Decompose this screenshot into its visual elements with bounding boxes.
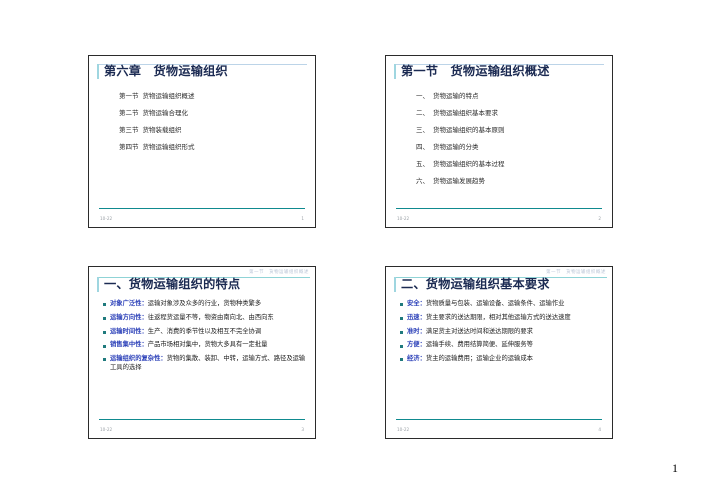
slide-footer-date-4: 10-22 bbox=[397, 427, 409, 432]
agenda-item-label: 货物运输组织的基本过程 bbox=[433, 160, 505, 168]
slide-canvas-3: 第一节 货物运输组织概述 一、货物运输组织的特点 对象广泛性：运输对象涉及众多的… bbox=[89, 267, 315, 438]
bullet-text: 方便：运输手续、费用结算简便、延伸服务等 bbox=[407, 341, 533, 350]
bullet-square-icon bbox=[400, 303, 403, 306]
slide-footer-date-3: 10-22 bbox=[100, 427, 112, 432]
bullet-item: 迅速：货主要求的送达期限，相对其他运输方式的送达速度 bbox=[400, 314, 604, 323]
agenda-item-label: 货物运输组织概述 bbox=[143, 92, 195, 100]
slide-footer-date-2: 10-22 bbox=[397, 216, 409, 221]
slide-footer-rule-3 bbox=[99, 419, 305, 420]
bullet-body: 往返程货运量不等，物资由南向北、由西向东 bbox=[148, 314, 274, 321]
bullet-body: 产品市场相对集中，货物大多具有一定批量 bbox=[148, 341, 268, 348]
agenda-item: 五、货物运输组织的基本过程 bbox=[416, 160, 602, 169]
agenda-item-label: 货物运输合理化 bbox=[143, 109, 189, 117]
bullet-item: 运输时间性：生产、消费的季节性以及相互不完全协调 bbox=[103, 328, 307, 337]
slide-title-area-3: 一、货物运输组织的特点 bbox=[97, 277, 307, 292]
slide-footer-number-2: 2 bbox=[598, 216, 601, 221]
bullet-square-icon bbox=[103, 345, 106, 348]
bullet-keyword: 销售集中性： bbox=[110, 341, 148, 348]
agenda-item: 三、货物运输组织的基本原则 bbox=[416, 126, 602, 135]
bullet-keyword: 安全： bbox=[407, 300, 426, 307]
agenda-item-number: 一、 bbox=[416, 92, 429, 100]
bullet-body: 生产、消费的季节性以及相互不完全协调 bbox=[148, 328, 261, 335]
agenda-item-number: 第四节 bbox=[119, 143, 139, 151]
bullet-list-3: 对象广泛性：运输对象涉及众多的行业，货物种类繁多 运输方向性：往返程货运量不等，… bbox=[103, 300, 307, 378]
bullet-item: 销售集中性：产品市场相对集中，货物大多具有一定批量 bbox=[103, 341, 307, 350]
bullet-item: 对象广泛性：运输对象涉及众多的行业，货物种类繁多 bbox=[103, 300, 307, 309]
slide-thumbnail-3[interactable]: 第一节 货物运输组织概述 一、货物运输组织的特点 对象广泛性：运输对象涉及众多的… bbox=[88, 266, 316, 439]
bullet-text: 对象广泛性：运输对象涉及众多的行业，货物种类繁多 bbox=[110, 300, 261, 309]
bullet-item: 安全：货物质量与包装、运输设备、运输条件、运输作业 bbox=[400, 300, 604, 309]
bullet-item: 运输组织的复杂性：货物的集散、装卸、中转，运输方式、路径及运输工具的选择 bbox=[103, 355, 307, 372]
slide-title-area-2: 第一节 货物运输组织概述 bbox=[394, 64, 604, 79]
bullet-square-icon bbox=[103, 331, 106, 334]
title-accent-bar-4 bbox=[394, 277, 396, 292]
bullet-text: 运输方向性：往返程货运量不等，物资由南向北、由西向东 bbox=[110, 314, 274, 323]
agenda-item-label: 货物运输组织形式 bbox=[143, 143, 195, 151]
slide-running-header-4: 第一节 货物运输组织概述 bbox=[546, 269, 606, 275]
title-accent-bar-1 bbox=[97, 64, 99, 79]
bullet-body: 货物质量与包装、运输设备、运输条件、运输作业 bbox=[426, 300, 565, 307]
slide-title-4: 二、货物运输组织基本要求 bbox=[401, 277, 550, 292]
agenda-item-number: 二、 bbox=[416, 109, 429, 117]
agenda-item: 六、货物运输发展趋势 bbox=[416, 177, 602, 186]
slide-title-area-4: 二、货物运输组织基本要求 bbox=[394, 277, 604, 292]
bullet-text: 安全：货物质量与包装、运输设备、运输条件、运输作业 bbox=[407, 300, 564, 309]
bullet-square-icon bbox=[400, 345, 403, 348]
slide-thumbnail-4[interactable]: 第一节 货物运输组织概述 二、货物运输组织基本要求 安全：货物质量与包装、运输设… bbox=[385, 266, 613, 439]
bullet-keyword: 准时： bbox=[407, 328, 426, 335]
bullet-square-icon bbox=[400, 358, 403, 361]
agenda-item-number: 三、 bbox=[416, 126, 429, 134]
agenda-item-label: 货物装载组织 bbox=[143, 126, 182, 134]
agenda-item-label: 货物运输发展趋势 bbox=[433, 177, 485, 185]
slide-footer-number-3: 3 bbox=[301, 427, 304, 432]
bullet-text: 运输组织的复杂性：货物的集散、装卸、中转，运输方式、路径及运输工具的选择 bbox=[110, 355, 307, 372]
bullet-keyword: 经济： bbox=[407, 355, 426, 362]
bullet-text: 经济：货主的运输费用；运输企业的运输成本 bbox=[407, 355, 533, 364]
slide-footer-rule-2 bbox=[396, 208, 602, 209]
slide-thumbnail-1[interactable]: 第六章 货物运输组织 第一节货物运输组织概述 第二节货物运输合理化 第三节货物装… bbox=[88, 55, 316, 228]
bullet-body: 运输手续、费用结算简便、延伸服务等 bbox=[426, 341, 533, 348]
title-accent-bar-3 bbox=[97, 277, 99, 292]
agenda-item-label: 货物运输组织的基本原则 bbox=[433, 126, 505, 134]
bullet-item: 准时：满足货主对送达时间和送达期限的要求 bbox=[400, 328, 604, 337]
bullet-text: 销售集中性：产品市场相对集中，货物大多具有一定批量 bbox=[110, 341, 267, 350]
slide-running-header-3: 第一节 货物运输组织概述 bbox=[249, 269, 309, 275]
agenda-item: 四、货物运输的分类 bbox=[416, 143, 602, 152]
bullet-body: 满足货主对送达时间和送达期限的要求 bbox=[426, 328, 533, 335]
bullet-text: 迅速：货主要求的送达期限，相对其他运输方式的送达速度 bbox=[407, 314, 571, 323]
agenda-item: 二、货物运输组织基本要求 bbox=[416, 109, 602, 118]
agenda-item: 第四节货物运输组织形式 bbox=[119, 143, 305, 152]
bullet-list-4: 安全：货物质量与包装、运输设备、运输条件、运输作业 迅速：货主要求的送达期限，相… bbox=[400, 300, 604, 369]
bullet-square-icon bbox=[400, 317, 403, 320]
bullet-keyword: 运输组织的复杂性： bbox=[110, 355, 167, 362]
page-number: 1 bbox=[672, 461, 678, 476]
slide-canvas-2: 第一节 货物运输组织概述 一、货物运输的特点 二、货物运输组织基本要求 三、货物… bbox=[386, 56, 612, 227]
agenda-item-label: 货物运输的分类 bbox=[433, 143, 479, 151]
bullet-item: 经济：货主的运输费用；运输企业的运输成本 bbox=[400, 355, 604, 364]
title-accent-bar-2 bbox=[394, 64, 396, 79]
bullet-body: 运输对象涉及众多的行业，货物种类繁多 bbox=[148, 300, 261, 307]
agenda-item-label: 货物运输组织基本要求 bbox=[433, 109, 498, 117]
slide-footer-date-1: 10-22 bbox=[100, 216, 112, 221]
agenda-item: 第一节货物运输组织概述 bbox=[119, 92, 305, 101]
slide-grid: 第六章 货物运输组织 第一节货物运输组织概述 第二节货物运输合理化 第三节货物装… bbox=[88, 55, 615, 440]
bullet-keyword: 运输时间性： bbox=[110, 328, 148, 335]
bullet-text: 运输时间性：生产、消费的季节性以及相互不完全协调 bbox=[110, 328, 261, 337]
slide-thumbnail-2[interactable]: 第一节 货物运输组织概述 一、货物运输的特点 二、货物运输组织基本要求 三、货物… bbox=[385, 55, 613, 228]
bullet-text: 准时：满足货主对送达时间和送达期限的要求 bbox=[407, 328, 533, 337]
slide-footer-number-4: 4 bbox=[598, 427, 601, 432]
agenda-item-number: 五、 bbox=[416, 160, 429, 168]
bullet-item: 运输方向性：往返程货运量不等，物资由南向北、由西向东 bbox=[103, 314, 307, 323]
agenda-item: 第三节货物装载组织 bbox=[119, 126, 305, 135]
bullet-square-icon bbox=[103, 303, 106, 306]
agenda-item-number: 四、 bbox=[416, 143, 429, 151]
handout-page: 第六章 货物运输组织 第一节货物运输组织概述 第二节货物运输合理化 第三节货物装… bbox=[0, 0, 702, 496]
agenda-list-1: 第一节货物运输组织概述 第二节货物运输合理化 第三节货物装载组织 第四节货物运输… bbox=[119, 92, 305, 160]
bullet-square-icon bbox=[400, 331, 403, 334]
slide-canvas-1: 第六章 货物运输组织 第一节货物运输组织概述 第二节货物运输合理化 第三节货物装… bbox=[89, 56, 315, 227]
agenda-item-number: 六、 bbox=[416, 177, 429, 185]
bullet-keyword: 方便： bbox=[407, 341, 426, 348]
slide-title-area-1: 第六章 货物运输组织 bbox=[97, 64, 307, 79]
bullet-square-icon bbox=[103, 358, 106, 361]
agenda-list-2: 一、货物运输的特点 二、货物运输组织基本要求 三、货物运输组织的基本原则 四、货… bbox=[416, 92, 602, 194]
slide-footer-rule-4 bbox=[396, 419, 602, 420]
agenda-item-number: 第一节 bbox=[119, 92, 139, 100]
bullet-keyword: 迅速： bbox=[407, 314, 426, 321]
slide-title-2: 第一节 货物运输组织概述 bbox=[401, 64, 550, 79]
bullet-keyword: 对象广泛性： bbox=[110, 300, 148, 307]
bullet-body: 货主的运输费用；运输企业的运输成本 bbox=[426, 355, 533, 362]
bullet-square-icon bbox=[103, 317, 106, 320]
agenda-item-label: 货物运输的特点 bbox=[433, 92, 479, 100]
agenda-item-number: 第三节 bbox=[119, 126, 139, 134]
agenda-item: 一、货物运输的特点 bbox=[416, 92, 602, 101]
slide-title-1: 第六章 货物运输组织 bbox=[104, 64, 228, 79]
agenda-item: 第二节货物运输合理化 bbox=[119, 109, 305, 118]
agenda-item-number: 第二节 bbox=[119, 109, 139, 117]
bullet-keyword: 运输方向性： bbox=[110, 314, 148, 321]
slide-footer-number-1: 1 bbox=[301, 216, 304, 221]
bullet-body: 货主要求的送达期限，相对其他运输方式的送达速度 bbox=[426, 314, 571, 321]
slide-title-3: 一、货物运输组织的特点 bbox=[104, 277, 240, 292]
slide-canvas-4: 第一节 货物运输组织概述 二、货物运输组织基本要求 安全：货物质量与包装、运输设… bbox=[386, 267, 612, 438]
bullet-item: 方便：运输手续、费用结算简便、延伸服务等 bbox=[400, 341, 604, 350]
slide-footer-rule-1 bbox=[99, 208, 305, 209]
